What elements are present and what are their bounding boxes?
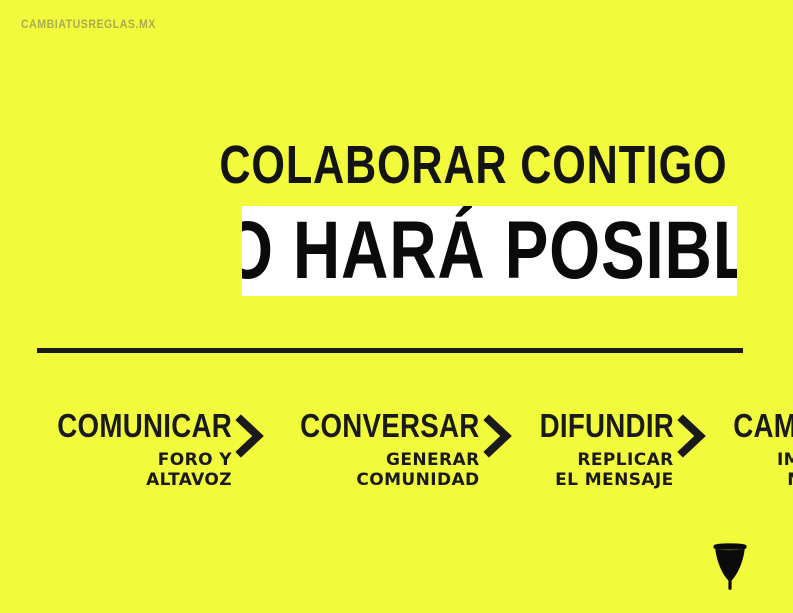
headline-banner: LO HARÁ POSIBLE	[242, 206, 737, 296]
chevron-right-icon	[674, 414, 708, 458]
headline-line-1: COLABORAR CONTIGO	[147, 136, 737, 194]
step-subtitle: IMPACTO MASIVO	[777, 450, 793, 490]
step-comunicar: COMUNICAR FORO Y ALTAVOZ	[24, 408, 232, 490]
step-title: CONVERSAR	[300, 408, 479, 444]
step-subtitle: REPLICAR EL MENSAJE	[555, 450, 673, 490]
process-steps: COMUNICAR FORO Y ALTAVOZ CONVERSAR GENER…	[24, 408, 769, 490]
step-subtitle: FORO Y ALTAVOZ	[146, 450, 232, 490]
step-title: COMUNICAR	[57, 408, 232, 444]
headline-block: COLABORAR CONTIGO	[0, 136, 737, 194]
chevron-right-icon	[232, 414, 266, 458]
step-difundir: DIFUNDIR REPLICAR EL MENSAJE	[514, 408, 674, 490]
step-cambiar: CAMBIAR IMPACTO MASIVO	[708, 408, 793, 490]
headline-line-2: LO HARÁ POSIBLE	[242, 210, 737, 292]
chevron-right-icon	[480, 414, 514, 458]
step-title: DIFUNDIR	[539, 408, 673, 444]
site-logo: CAMBIATUSREGLAS.MX	[21, 17, 156, 31]
megaphone-icon	[710, 543, 750, 591]
step-subtitle: GENERAR COMUNIDAD	[356, 450, 479, 490]
step-title: CAMBIAR	[733, 408, 793, 444]
step-conversar: CONVERSAR GENERAR COMUNIDAD	[266, 408, 480, 490]
presentation-slide: CAMBIATUSREGLAS.MX COLABORAR CONTIGO LO …	[0, 0, 793, 613]
horizontal-divider	[37, 348, 743, 353]
